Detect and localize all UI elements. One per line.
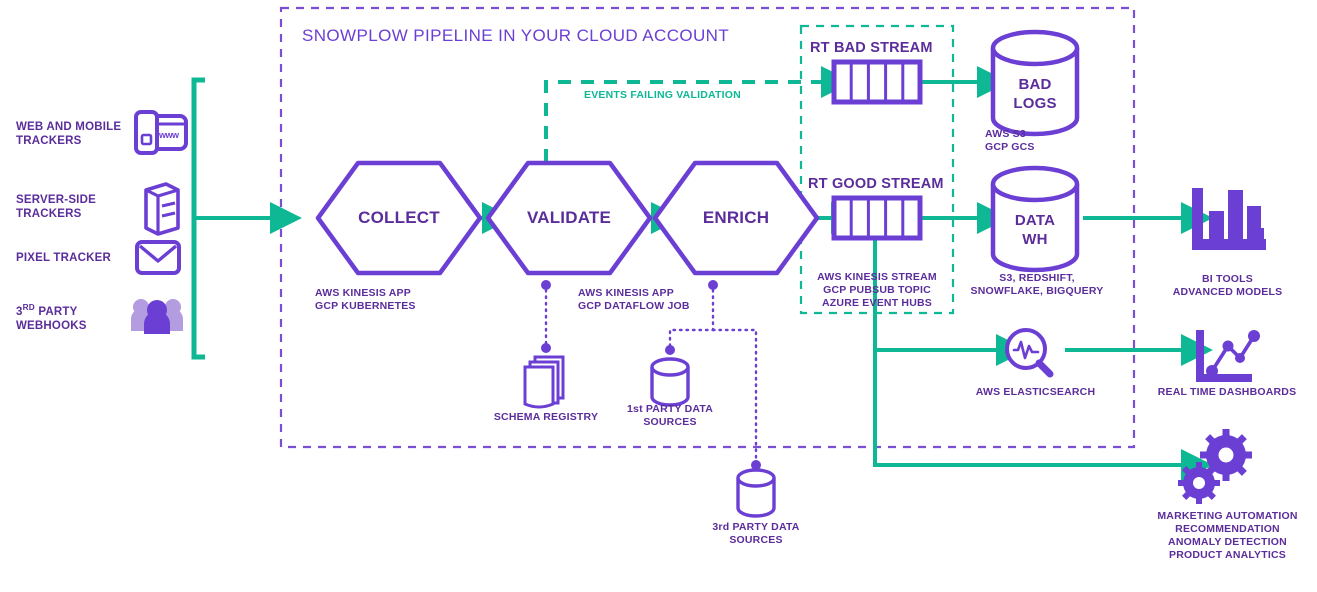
bad-stream-queue[interactable]	[834, 62, 920, 102]
source-label-line1: SERVER-SIDE	[16, 194, 96, 206]
source-label-line2: WEBHOOKS	[16, 320, 87, 332]
caption-line1: AWS KINESIS APP	[315, 287, 411, 299]
stage-label-validate: VALIDATE	[499, 207, 639, 228]
stage-label-collect: COLLECT	[329, 207, 469, 228]
caption-line1: AWS S3	[985, 128, 1026, 140]
server-icon	[146, 184, 178, 234]
magnifier-waveform-icon	[1007, 330, 1050, 374]
first-party-dot	[665, 345, 675, 355]
webhook-ordinal-number: 3	[16, 306, 23, 318]
envelope-icon	[137, 242, 179, 273]
caption-line2: GCP DATAFLOW JOB	[578, 300, 690, 312]
label-line2: SOURCES	[643, 416, 696, 428]
validate-connector-dot	[541, 280, 551, 290]
schema-registry-label: SCHEMA REGISTRY	[480, 411, 612, 424]
caption-line2: GCP KUBERNETES	[315, 300, 416, 312]
gears-icon	[1178, 429, 1252, 504]
data-wh-label: DATA WH	[995, 212, 1075, 250]
source-label-third-party-webhooks: 3RD PARTY WEBHOOKS	[16, 303, 126, 334]
caption-line3: AZURE EVENT HUBS	[822, 297, 932, 309]
source-label-line2: TRACKERS	[16, 135, 82, 147]
events-failing-validation-label: EVENTS FAILING VALIDATION	[584, 89, 741, 102]
applications-label: MARKETING AUTOMATION RECOMMENDATION ANOM…	[1140, 510, 1315, 563]
good-stream-caption: AWS KINESIS STREAM GCP PUBSUB TOPIC AZUR…	[806, 271, 948, 310]
webhook-ordinal-suffix: RD	[23, 303, 35, 312]
bad-logs-label: BAD LOGS	[995, 76, 1075, 114]
caption-line1: AWS KINESIS STREAM	[817, 271, 937, 283]
label-line4: PRODUCT ANALYTICS	[1169, 549, 1286, 561]
source-label-server-side: SERVER-SIDE TRACKERS	[16, 193, 126, 222]
label-line2: ADVANCED MODELS	[1173, 286, 1283, 298]
label-line1: MARKETING AUTOMATION	[1157, 510, 1297, 522]
caption-line2: GCP GCS	[985, 141, 1035, 153]
caption-line1: S3, REDSHIFT,	[999, 272, 1075, 284]
elasticsearch-label: AWS ELASTICSEARCH	[963, 386, 1108, 399]
label-line1: BI TOOLS	[1202, 273, 1253, 285]
source-label-line1: WEB AND MOBILE	[16, 121, 121, 133]
caption-line1: AWS KINESIS APP	[578, 287, 674, 299]
stage-caption-validate: AWS KINESIS APP GCP DATAFLOW JOB	[578, 287, 758, 313]
line-chart-icon	[1196, 330, 1260, 382]
label-line2: RECOMMENDATION	[1175, 523, 1280, 535]
label-line3: ANOMALY DETECTION	[1168, 536, 1287, 548]
schema-registry-dot	[541, 343, 551, 353]
store-label-line2: WH	[1022, 231, 1047, 248]
bad-logs-caption: AWS S3 GCP GCS	[985, 128, 1085, 154]
data-wh-caption: S3, REDSHIFT, SNOWFLAKE, BIGQUERY	[962, 272, 1112, 298]
diagram-canvas: SNOWPLOW PIPELINE IN YOUR CLOUD ACCOUNT …	[0, 0, 1317, 592]
good-stream-title: RT GOOD STREAM	[808, 175, 944, 193]
source-label-line1: PIXEL TRACKER	[16, 252, 111, 264]
www-text-icon: www	[159, 130, 179, 140]
stage-label-enrich: ENRICH	[666, 207, 806, 228]
bar-chart-icon	[1192, 188, 1266, 250]
people-group-icon	[131, 299, 183, 334]
store-label-line1: BAD	[1018, 76, 1051, 93]
documents-stack-icon	[525, 357, 563, 407]
third-party-label: 3rd PARTY DATA SOURCES	[700, 521, 812, 547]
third-party-database-cylinder-icon	[738, 470, 774, 516]
bad-stream-title: RT BAD STREAM	[810, 39, 933, 57]
bi-tools-label: BI TOOLS ADVANCED MODELS	[1155, 273, 1300, 299]
source-label-pixel-tracker: PIXEL TRACKER	[16, 251, 136, 265]
dashboards-label: REAL TIME DASHBOARDS	[1142, 386, 1312, 399]
caption-line2: SNOWFLAKE, BIGQUERY	[971, 285, 1104, 297]
store-label-line1: DATA	[1015, 212, 1055, 229]
caption-line2: GCP PUBSUB TOPIC	[823, 284, 931, 296]
webhook-label-rest: PARTY	[35, 306, 78, 318]
source-label-web-mobile: WEB AND MOBILE TRACKERS	[16, 120, 126, 149]
label-line2: SOURCES	[729, 534, 782, 546]
label-line1: 3rd PARTY DATA	[712, 521, 799, 533]
label-line1: 1st PARTY DATA	[627, 403, 713, 415]
source-label-line2: TRACKERS	[16, 208, 82, 220]
first-party-label: 1st PARTY DATA SOURCES	[615, 403, 725, 429]
page-title: SNOWPLOW PIPELINE IN YOUR CLOUD ACCOUNT	[302, 25, 729, 46]
first-party-database-cylinder-icon	[652, 359, 688, 405]
store-label-line2: LOGS	[1013, 95, 1056, 112]
good-stream-queue[interactable]	[834, 198, 920, 238]
stage-caption-collect: AWS KINESIS APP GCP KUBERNETES	[315, 287, 485, 313]
